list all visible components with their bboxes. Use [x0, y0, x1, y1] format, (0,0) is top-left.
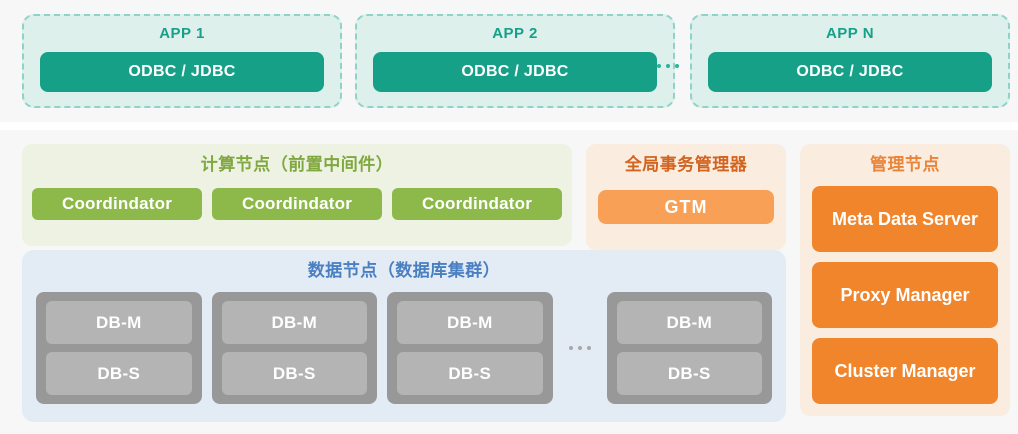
app-title-1: APP 1 [24, 24, 340, 44]
db-group-1[interactable]: DB-M DB-S [36, 292, 202, 404]
cluster-layer-band: 计算节点（前置中间件） Coordindator Coordindator Co… [0, 130, 1018, 434]
app-box-n[interactable]: APP N ODBC / JDBC [690, 14, 1010, 108]
coordinator-node-3[interactable]: Coordindator [392, 188, 562, 220]
compute-node-panel: 计算节点（前置中间件） Coordindator Coordindator Co… [22, 144, 572, 246]
app-title-2: APP 2 [357, 24, 673, 44]
db-master-3[interactable]: DB-M [397, 301, 543, 344]
app-title-n: APP N [692, 24, 1008, 44]
gtm-title: 全局事务管理器 [586, 144, 786, 176]
management-item-list: Meta Data Server Proxy Manager Cluster M… [812, 186, 998, 404]
app-connector-n[interactable]: ODBC / JDBC [708, 52, 992, 92]
app-box-1[interactable]: APP 1 ODBC / JDBC [22, 14, 342, 108]
db-slave-3[interactable]: DB-S [397, 352, 543, 395]
app-connector-2[interactable]: ODBC / JDBC [373, 52, 657, 92]
data-node-title: 数据节点（数据库集群） [22, 250, 786, 282]
proxy-manager-node[interactable]: Proxy Manager [812, 262, 998, 328]
db-group-2[interactable]: DB-M DB-S [212, 292, 378, 404]
cluster-manager-node[interactable]: Cluster Manager [812, 338, 998, 404]
db-group-3[interactable]: DB-M DB-S [387, 292, 553, 404]
db-master-n[interactable]: DB-M [617, 301, 763, 344]
app-connector-1[interactable]: ODBC / JDBC [40, 52, 324, 92]
app-box-2[interactable]: APP 2 ODBC / JDBC [355, 14, 675, 108]
db-slave-n[interactable]: DB-S [617, 352, 763, 395]
db-slave-1[interactable]: DB-S [46, 352, 192, 395]
db-ellipsis-icon [569, 346, 591, 350]
architecture-diagram: APP 1 ODBC / JDBC APP 2 ODBC / JDBC APP … [0, 0, 1018, 434]
coordinator-node-2[interactable]: Coordindator [212, 188, 382, 220]
app-ellipsis-icon [657, 64, 679, 68]
gtm-panel: 全局事务管理器 GTM [586, 144, 786, 250]
db-master-1[interactable]: DB-M [46, 301, 192, 344]
management-node-title: 管理节点 [800, 144, 1010, 176]
coordinator-node-1[interactable]: Coordindator [32, 188, 202, 220]
data-node-panel: 数据节点（数据库集群） DB-M DB-S DB-M DB-S DB-M DB-… [22, 250, 786, 422]
meta-data-server-node[interactable]: Meta Data Server [812, 186, 998, 252]
compute-node-title: 计算节点（前置中间件） [22, 144, 572, 176]
application-layer-band: APP 1 ODBC / JDBC APP 2 ODBC / JDBC APP … [0, 0, 1018, 122]
db-slave-2[interactable]: DB-S [222, 352, 368, 395]
db-group-n[interactable]: DB-M DB-S [607, 292, 773, 404]
db-group-list: DB-M DB-S DB-M DB-S DB-M DB-S [36, 292, 772, 404]
db-master-2[interactable]: DB-M [222, 301, 368, 344]
coordinator-list: Coordindator Coordindator Coordindator [32, 188, 562, 220]
gtm-node[interactable]: GTM [598, 190, 774, 224]
management-node-panel: 管理节点 Meta Data Server Proxy Manager Clus… [800, 144, 1010, 416]
